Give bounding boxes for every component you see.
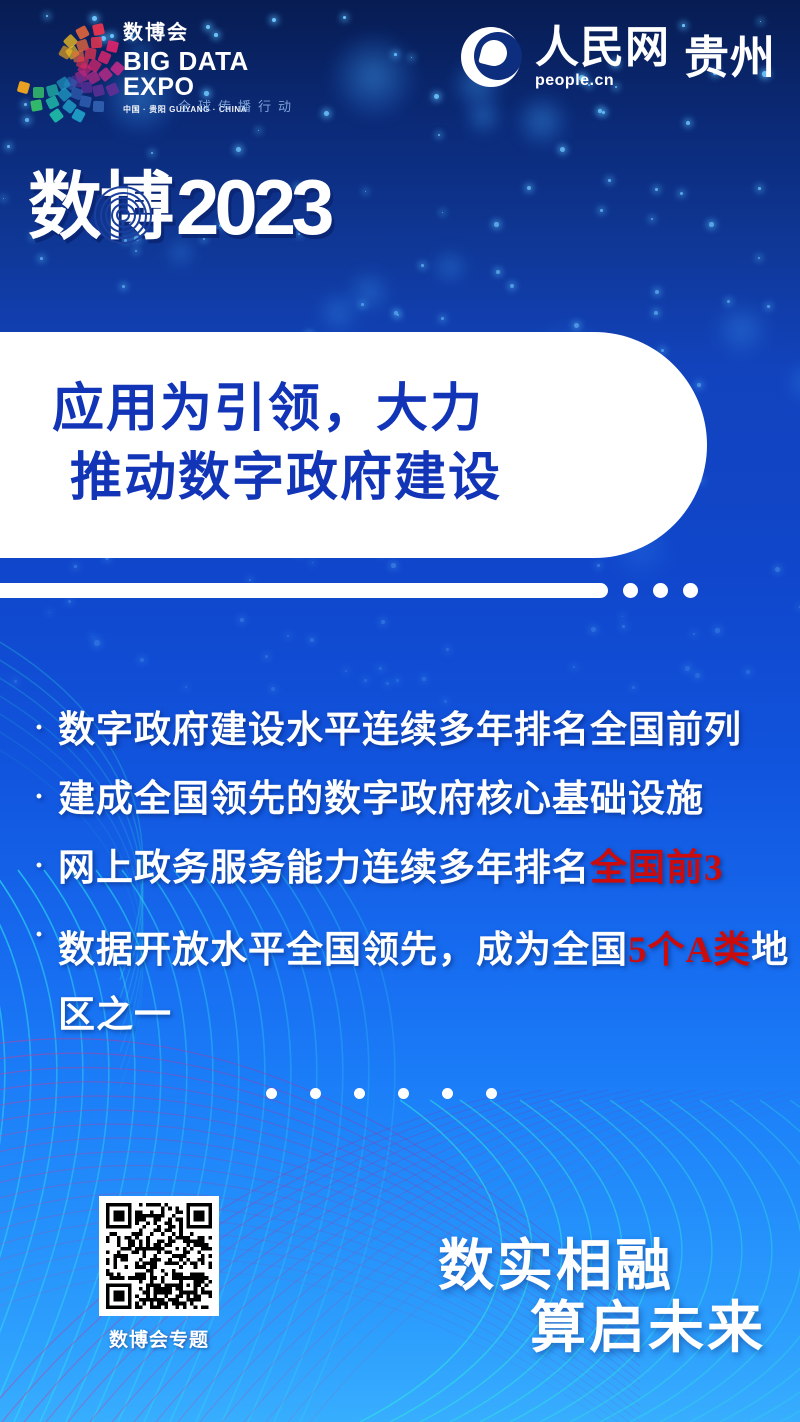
qr-code-svg: [106, 1203, 212, 1309]
separator-dot: [310, 1088, 321, 1099]
poster-root: 数博会 BIG DATA EXPO 中国 · 贵阳 GUIYANG · CHIN…: [0, 0, 800, 1422]
bullet-text: 数字政府建设水平连续多年排名全国前列: [58, 712, 794, 749]
poster-header: 数博会 BIG DATA EXPO 中国 · 贵阳 GUIYANG · CHIN…: [0, 0, 800, 150]
divider: [0, 583, 698, 598]
bullet-text: 数据开放水平全国领先，成为全国5个A类地区之一: [58, 919, 794, 1049]
bullet-item: ·数字政府建设水平连续多年排名全国前列: [34, 712, 794, 749]
people-cn-globe-icon: [461, 27, 521, 87]
expo-logo-cn: 数博会: [123, 23, 249, 43]
bullet-text: 网上政务服务能力连续多年排名全国前3: [58, 850, 794, 887]
wordmark-year: 2023: [176, 172, 330, 242]
page-title-line1: 应用为引领，大力: [52, 376, 637, 445]
people-cn-label: 人民网: [535, 27, 670, 69]
bullet-item: ·建成全国领先的数字政府核心基础设施: [34, 781, 794, 818]
bullet-text: 建成全国领先的数字政府核心基础设施: [58, 781, 794, 818]
separator-dot: [266, 1088, 277, 1099]
shubo-2023-wordmark: 数博 2023: [28, 172, 330, 242]
slogan-line1: 数实相融: [438, 1235, 674, 1298]
slogan-line2: 算启未来: [438, 1297, 766, 1360]
bullet-marker: ·: [34, 781, 58, 813]
divider-dot: [623, 583, 638, 598]
bigdata-expo-spiral-icon: [24, 22, 112, 114]
bullet-plain: 数据开放水平全国领先，成为全国: [58, 930, 628, 971]
bullet-marker: ·: [34, 919, 58, 951]
separator-dot: [486, 1088, 497, 1099]
bullet-plain: 数字政府建设水平连续多年排名全国前列: [58, 710, 742, 751]
qr-code-label: 数博会专题: [94, 1325, 224, 1352]
people-cn-domain: people.cn: [535, 72, 670, 90]
title-card: 应用为引领，大力 推动数字政府建设: [0, 332, 707, 558]
wordmark-tagline: 全球传播行动: [178, 96, 298, 115]
dot-separator-row: [266, 1088, 497, 1099]
bullet-plain: 网上政务服务能力连续多年排名: [58, 848, 590, 889]
divider-bar: [0, 583, 608, 598]
bullet-item: ·数据开放水平全国领先，成为全国5个A类地区之一: [34, 919, 794, 1049]
page-title-line2: 推动数字政府建设: [52, 445, 637, 514]
bullet-list: ·数字政府建设水平连续多年排名全国前列·建成全国领先的数字政府核心基础设施·网上…: [34, 712, 794, 1081]
expo-logo-en-line1: BIG DATA: [123, 48, 249, 74]
bullet-marker: ·: [34, 850, 58, 882]
separator-dot: [398, 1088, 409, 1099]
bullet-item: ·网上政务服务能力连续多年排名全国前3: [34, 850, 794, 887]
divider-dot: [653, 583, 668, 598]
bullet-marker: ·: [34, 712, 58, 744]
bullet-plain: 建成全国领先的数字政府核心基础设施: [58, 779, 704, 820]
bottom-slogan: 数实相融 算启未来: [438, 1235, 766, 1360]
separator-dot: [354, 1088, 365, 1099]
qr-code-icon[interactable]: [99, 1196, 219, 1316]
people-cn-logo: 人民网 people.cn 贵州: [461, 27, 776, 90]
bullet-highlight: 5个A类: [628, 930, 751, 971]
qr-block: 数博会专题: [94, 1196, 224, 1352]
bullet-highlight: 全国前3: [590, 848, 724, 889]
people-cn-province: 贵州: [684, 36, 776, 81]
wordmark-rings-icon: [94, 186, 152, 244]
separator-dot: [442, 1088, 453, 1099]
divider-dot: [683, 583, 698, 598]
